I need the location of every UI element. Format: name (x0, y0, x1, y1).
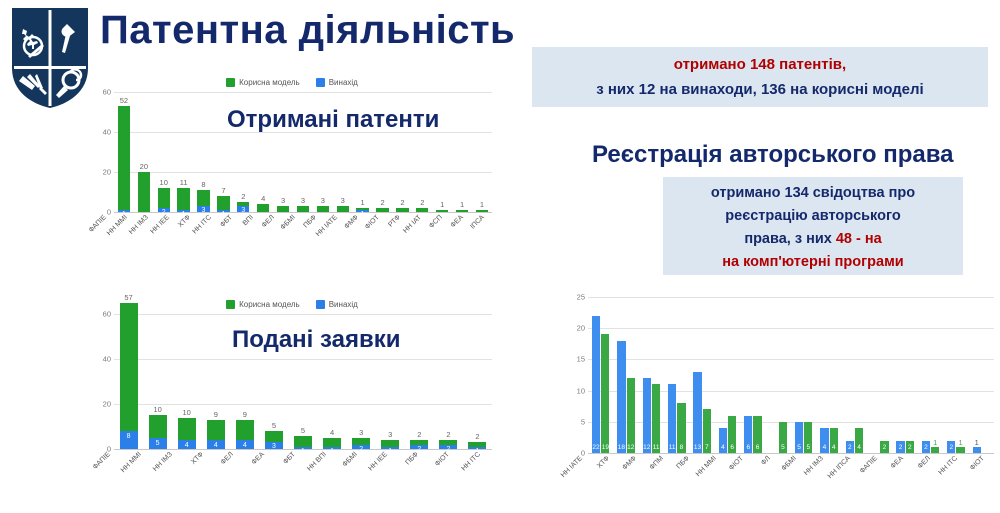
x-label-slot: ФСП (429, 212, 450, 256)
bar-slot[interactable]: 12 (463, 314, 492, 449)
bar-value-utility-model: 4 (323, 428, 341, 438)
bar-value-utility-model: 11 (177, 178, 189, 188)
callout-copyright-line3-prefix: права, з них (744, 231, 836, 247)
bar-slot[interactable]: 38 (194, 92, 214, 212)
chart2-xaxis: ФАПІЕНН ММІНН ІМЗХТФФЕЛФЕАФБТНН ВПІФБМІН… (92, 449, 492, 493)
x-label-slot: НН ІТС (461, 449, 492, 493)
x-label-slot: ФЛ (753, 453, 780, 497)
bar-segment-utility-model[interactable]: 22 (439, 440, 457, 445)
bar-slot[interactable]: 24 (842, 297, 867, 453)
x-label-slot: РТФ (387, 212, 408, 256)
bar-invention[interactable]: 22 (592, 316, 600, 453)
legend-swatch-green-icon (226, 300, 235, 309)
bar-segment-invention[interactable]: 4 (207, 440, 225, 449)
bar-stack[interactable]: 210 (158, 188, 170, 212)
bar-value-utility-model: 10 (158, 178, 170, 188)
copyright-registration-bars: 2219181212111181374666555442422221211 (588, 297, 994, 453)
x-axis-label: НН ММІ (120, 451, 143, 474)
bar-slot[interactable]: 46 (715, 297, 740, 453)
x-label-slot: НН ВПІ (307, 449, 338, 493)
bar-value-invention: 2 (846, 444, 854, 452)
bar-stack[interactable]: 13 (381, 440, 399, 449)
x-label-slot: ФБТ (218, 212, 239, 256)
submitted-applications-y-tick: 60 (103, 310, 111, 319)
bar-value-utility-model: 3 (297, 196, 309, 206)
bar-value-utility-model: 19 (601, 444, 609, 452)
bar-stack[interactable]: 510 (149, 415, 167, 449)
x-label-slot: НН ІТС (197, 212, 218, 256)
bar-slot[interactable]: 22 (893, 297, 918, 453)
bar-slot[interactable]: 1812 (613, 297, 638, 453)
x-label-slot: ФЕЛ (260, 212, 281, 256)
bar-group[interactable]: 21 (946, 297, 966, 453)
bar-invention[interactable]: 2 (922, 441, 930, 453)
callout-patents-line2: з них 12 на винаходи, 136 на корисні мод… (532, 77, 988, 102)
bar-segment-utility-model[interactable]: 20 (138, 172, 150, 212)
copyright-section-title: Реєстрація авторського права (592, 141, 954, 169)
copyright-registration-y-axis: 0510152025 (566, 285, 588, 453)
chart2-legend: Корисна модель Винахід (92, 298, 492, 310)
bar-group[interactable]: 118 (667, 297, 687, 453)
x-label-slot: НН ММІ (700, 453, 727, 497)
bar-slot[interactable]: 2219 (588, 297, 613, 453)
bar-slot[interactable]: 49 (201, 314, 230, 449)
bar-value-utility-model: 3 (337, 196, 349, 206)
x-label-slot: ВПІ (239, 212, 260, 256)
bar-group[interactable]: 1 (971, 297, 991, 453)
legend-swatch-blue-icon (316, 78, 325, 87)
x-label-slot: ФМФ (345, 212, 366, 256)
bar-group[interactable]: 46 (718, 297, 738, 453)
x-label-slot: НН ІЕЕ (155, 212, 176, 256)
x-axis-label: НН ІТС (937, 455, 958, 476)
bar-slot[interactable]: 152 (114, 92, 134, 212)
bar-group[interactable]: 21 (921, 297, 941, 453)
x-label-slot: НН ІАТЕ (324, 212, 345, 256)
received-patents-y-tick: 20 (103, 168, 111, 177)
x-axis-label: ФІОТ (364, 214, 381, 231)
x-label-slot: ФМФ (620, 453, 647, 497)
bar-value-utility-model: 2 (439, 430, 457, 440)
submitted-applications-y-tick: 20 (103, 400, 111, 409)
bar-stack[interactable]: 38 (197, 190, 209, 212)
bar-stack[interactable]: 20 (138, 172, 150, 212)
x-label-slot: ФПМ (646, 453, 673, 497)
x-axis-label: РТФ (387, 214, 402, 229)
chart1-xaxis: ФАПІЕНН ММІНН ІМЗНН ІЕЕХТФНН ІТСФБТВПІФЕ… (92, 212, 492, 256)
bar-group[interactable]: 44 (819, 297, 839, 453)
bar-utility-model[interactable]: 11 (652, 384, 660, 453)
bar-segment-utility-model[interactable]: 152 (118, 106, 130, 210)
submitted-applications-y-axis: 0204060 (92, 314, 114, 449)
bar-slot[interactable]: 857 (114, 314, 143, 449)
bar-slot[interactable]: 1 (452, 92, 472, 212)
x-axis-label: ФЕЛ (917, 455, 932, 470)
x-axis-label: ФІОТ (728, 455, 745, 472)
bar-segment-utility-model[interactable]: 4 (257, 204, 269, 212)
bar-segment-utility-model[interactable]: 15 (294, 436, 312, 447)
callout-patents-line1-suffix: патентів, (775, 56, 846, 73)
bar-segment-utility-model[interactable]: 17 (217, 196, 229, 210)
bar-value-utility-model: 4 (257, 194, 269, 204)
bar-value-utility-model: 1 (476, 200, 488, 210)
bar-stack[interactable]: 14 (323, 438, 341, 449)
bar-segment-utility-model[interactable]: 35 (265, 431, 283, 442)
bar-stack[interactable]: 22 (439, 440, 457, 449)
bar-value-utility-model: 3 (277, 196, 289, 206)
bar-value-invention: 5 (795, 444, 803, 452)
bar-stack[interactable]: 4 (257, 204, 269, 212)
bar-slot[interactable]: 410 (172, 314, 201, 449)
x-axis-label: НН ІМЗ (803, 455, 825, 477)
bar-slot[interactable]: 21 (943, 297, 968, 453)
bar-segment-utility-model[interactable]: 32 (237, 202, 249, 206)
bar-group[interactable]: 5 (768, 297, 788, 453)
bar-invention[interactable]: 13 (693, 372, 701, 453)
bar-value-utility-model: 52 (118, 96, 130, 106)
bar-utility-model[interactable]: 19 (601, 334, 609, 453)
bar-group[interactable]: 22 (895, 297, 915, 453)
bar-utility-model[interactable]: 2 (880, 441, 888, 453)
bar-stack[interactable]: 410 (178, 418, 196, 450)
bar-group[interactable]: 24 (845, 297, 865, 453)
copyright-registration-y-tick: 15 (577, 355, 585, 364)
received-patents-y-tick: 60 (103, 88, 111, 97)
bar-segment-invention[interactable]: 5 (149, 438, 167, 449)
bar-value-utility-model: 6 (753, 444, 761, 452)
copyright-registration-y-tick: 10 (577, 386, 585, 395)
chart2-title: Подані заявки (232, 326, 401, 354)
bar-segment-utility-model[interactable]: 14 (323, 438, 341, 447)
bar-invention[interactable]: 11 (668, 384, 676, 453)
callout-patents: отримано 148 патентів, з них 12 на винах… (532, 47, 988, 107)
x-axis-label: ФБТ (219, 214, 234, 229)
x-axis-label: ХТФ (596, 455, 611, 470)
bar-utility-model[interactable]: 5 (779, 422, 787, 453)
x-axis-label: НН ІМЗ (152, 451, 174, 473)
bar-value-utility-model: 3 (352, 428, 370, 438)
x-label-slot: ПБФ (400, 449, 431, 493)
x-label-slot: ФЕА (450, 212, 471, 256)
x-label-slot: ФЕА (887, 453, 914, 497)
bar-segment-utility-model[interactable]: 210 (158, 188, 170, 208)
x-axis-label: ФПМ (648, 455, 664, 471)
x-label-slot: НН ІАТЕ (566, 453, 593, 497)
x-axis-label: ФМФ (621, 455, 638, 472)
x-label-slot: ХТФ (184, 449, 215, 493)
bar-utility-model[interactable]: 6 (753, 416, 761, 453)
bar-slot[interactable]: 1 (969, 297, 994, 453)
bar-value-utility-model: 12 (627, 444, 635, 452)
bar-invention[interactable]: 2 (896, 441, 904, 453)
bar-utility-model[interactable]: 7 (703, 409, 711, 453)
bar-value-utility-model: 4 (830, 444, 838, 452)
x-axis-label: ФІОТ (434, 451, 451, 468)
bar-value-invention: 6 (744, 444, 752, 452)
x-axis-label: ФСП (428, 214, 444, 230)
bar-invention[interactable]: 6 (744, 416, 752, 453)
bar-group[interactable]: 1211 (642, 297, 662, 453)
bar-group[interactable]: 2219 (591, 297, 611, 453)
x-label-slot: ФБМІ (338, 449, 369, 493)
bar-stack[interactable]: 17 (217, 196, 229, 212)
legend-item-green: Корисна модель (226, 78, 300, 87)
bar-segment-utility-model[interactable]: 13 (381, 440, 399, 447)
bar-segment-utility-model[interactable]: 57 (120, 303, 138, 431)
bar-value-invention: 1 (973, 438, 981, 447)
bar-stack[interactable]: 23 (352, 438, 370, 449)
bar-value-invention: 5 (149, 439, 167, 448)
bar-slot[interactable]: 22 (434, 314, 463, 449)
legend-swatch-blue-icon (316, 300, 325, 309)
x-axis-label: ПБФ (302, 214, 317, 229)
bar-value-utility-model: 3 (317, 196, 329, 206)
bar-value-utility-model: 10 (149, 405, 167, 415)
chart1-title: Отримані патенти (227, 106, 439, 134)
legend-label-green: Корисна модель (239, 78, 300, 87)
bar-value-utility-model: 3 (381, 430, 399, 440)
bar-stack[interactable]: 111 (177, 188, 189, 212)
bar-stack[interactable]: 35 (265, 431, 283, 449)
callout-copyright-line3: права, з них 48 - на (663, 228, 963, 251)
bar-stack[interactable]: 22 (410, 440, 428, 449)
x-label-slot: ФБМІ (281, 212, 302, 256)
chart-received-patents: Корисна модель Винахід Отримані патенти … (92, 76, 492, 286)
legend-item-green: Корисна модель (226, 300, 300, 309)
bar-value-utility-model: 2 (906, 444, 914, 452)
x-axis-label: ПБФ (405, 451, 420, 466)
callout-copyright: отримано 134 свідоцтва про реєстрацію ав… (663, 177, 963, 275)
received-patents-y-axis: 0204060 (92, 92, 114, 212)
bar-segment-utility-model[interactable]: 111 (177, 188, 189, 210)
callout-copyright-count: 48 - на (836, 231, 882, 247)
x-axis-label: НН ВПІ (306, 451, 328, 473)
bar-value-utility-model: 1 (456, 200, 468, 210)
bar-segment-utility-model[interactable]: 38 (197, 190, 209, 206)
bar-stack[interactable]: 15 (294, 436, 312, 450)
bar-utility-model[interactable]: 6 (728, 416, 736, 453)
bar-value-utility-model: 6 (728, 444, 736, 452)
bar-value-utility-model: 5 (265, 421, 283, 431)
bar-value-utility-model: 20 (138, 162, 150, 172)
bar-slot[interactable]: 44 (816, 297, 841, 453)
bar-value-utility-model: 1 (436, 200, 448, 210)
bar-slot[interactable]: 20 (134, 92, 154, 212)
x-label-slot: НН ІТС (941, 453, 968, 497)
bar-value-invention: 18 (617, 444, 625, 452)
bar-value-invention: 13 (693, 444, 701, 452)
bar-stack[interactable]: 12 (468, 442, 486, 449)
bar-utility-model[interactable]: 5 (804, 422, 812, 453)
x-axis-label: ФЛ (760, 455, 772, 467)
bar-segment-invention[interactable]: 4 (236, 440, 254, 449)
legend-item-blue: Винахід (316, 78, 358, 87)
x-axis-label: ФЕЛ (220, 451, 235, 466)
bar-value-invention: 2 (947, 444, 955, 452)
bar-slot[interactable]: 111 (174, 92, 194, 212)
x-label-slot: ФЕА (246, 449, 277, 493)
x-label-slot: НН ІМЗ (134, 212, 155, 256)
legend-swatch-green-icon (226, 78, 235, 87)
x-axis-label: ФБТ (282, 451, 297, 466)
x-axis-label: ХТФ (177, 214, 192, 229)
bar-value-utility-model: 5 (804, 444, 812, 452)
x-label-slot: НН ІЕЕ (369, 449, 400, 493)
bar-value-utility-model: 2 (468, 432, 486, 442)
bar-segment-invention[interactable]: 4 (178, 440, 196, 449)
x-label-slot: ФІОТ (430, 449, 461, 493)
bar-slot[interactable]: 510 (143, 314, 172, 449)
kpi-coat-of-arms-logo (8, 4, 92, 112)
bar-value-utility-model: 2 (396, 198, 408, 208)
callout-copyright-line1: отримано 134 свідоцтва про (663, 182, 963, 205)
x-axis-label: НН ІАТЕ (560, 455, 584, 479)
bar-value-invention: 8 (120, 432, 138, 441)
x-axis-label: ПБФ (676, 455, 691, 470)
x-label-slot: ФАПІЕ (92, 449, 123, 493)
bar-utility-model[interactable]: 2 (906, 441, 914, 453)
chart1-legend: Корисна модель Винахід (92, 76, 492, 88)
x-axis-label: ФАПІЕ (858, 455, 878, 475)
bar-group[interactable]: 55 (794, 297, 814, 453)
bar-segment-utility-model[interactable]: 10 (178, 418, 196, 441)
x-axis-label: ІПСА (470, 214, 487, 231)
bar-invention[interactable]: 2 (846, 441, 854, 453)
callout-patents-line1-prefix: отримано (674, 56, 750, 73)
x-label-slot: ФІОТ (727, 453, 754, 497)
x-axis-label: ФЕА (251, 451, 266, 466)
bar-invention[interactable]: 18 (617, 341, 625, 453)
bar-value-utility-model: 8 (677, 444, 685, 452)
bar-value-utility-model: 1 (931, 438, 939, 447)
callout-copyright-line2: реєстрацію авторського (663, 205, 963, 228)
bar-slot[interactable]: 5 (766, 297, 791, 453)
x-label-slot: ФІОТ (967, 453, 994, 497)
x-axis-label: НН ІЕЕ (368, 451, 389, 472)
bar-slot[interactable]: 137 (690, 297, 715, 453)
x-label-slot: ФАПІЕ (860, 453, 887, 497)
x-axis-label: ФЕА (450, 214, 465, 229)
bar-invention[interactable]: 2 (947, 441, 955, 453)
chart-copyright-registration: 0510152025221918121211118137466655544242… (566, 285, 994, 510)
chart3-xaxis: НН ІАТЕХТФФМФФПМПБФНН ММІФІОТФЛФБМІНН ІМ… (566, 453, 994, 497)
bar-group[interactable]: 137 (692, 297, 712, 453)
bar-slot[interactable]: 66 (740, 297, 765, 453)
callout-copyright-line4: на комп'ютерні програми (663, 251, 963, 274)
bar-stack[interactable]: 49 (207, 420, 225, 449)
page-title: Патентна діяльність (100, 8, 515, 53)
bar-stack[interactable]: 32 (237, 202, 249, 212)
bar-value-utility-model: 57 (120, 293, 138, 303)
submitted-applications-y-tick: 40 (103, 355, 111, 364)
legend-item-blue: Винахід (316, 300, 358, 309)
x-axis-label: ФБМІ (279, 214, 296, 231)
x-label-slot: ФІОТ (366, 212, 387, 256)
bar-utility-model[interactable]: 4 (830, 428, 838, 453)
bar-value-utility-model: 7 (217, 186, 229, 196)
bar-group[interactable]: 1812 (616, 297, 636, 453)
bar-group[interactable]: 66 (743, 297, 763, 453)
bar-value-utility-model: 5 (294, 426, 312, 436)
bar-value-utility-model: 2 (410, 430, 428, 440)
bar-value-utility-model: 9 (207, 410, 225, 420)
x-axis-label: ФБМІ (781, 455, 798, 472)
bar-group[interactable]: 2 (870, 297, 890, 453)
x-label-slot: НН ММІ (123, 449, 154, 493)
bar-stack[interactable]: 49 (236, 420, 254, 449)
bar-invention[interactable]: 12 (643, 378, 651, 453)
bar-slot[interactable]: 1211 (639, 297, 664, 453)
bar-value-invention: 2 (896, 444, 904, 452)
x-axis-label: ФБМІ (341, 451, 358, 468)
bar-value-invention: 2 (922, 444, 930, 452)
bar-value-utility-model: 11 (652, 444, 660, 452)
x-label-slot: НН ІПСА (834, 453, 861, 497)
bar-segment-utility-model[interactable]: 23 (352, 438, 370, 445)
x-label-slot: НН ІМЗ (154, 449, 185, 493)
bar-slot[interactable]: 21 (918, 297, 943, 453)
bar-value-invention: 4 (719, 444, 727, 452)
bar-slot[interactable]: 1 (472, 92, 492, 212)
bar-segment-utility-model[interactable]: 10 (149, 415, 167, 438)
bar-slot[interactable]: 210 (154, 92, 174, 212)
bar-utility-model[interactable]: 8 (677, 403, 685, 453)
chart3-plot: 0510152025221918121211118137466655544242… (566, 285, 994, 453)
bar-utility-model[interactable]: 4 (855, 428, 863, 453)
bar-segment-invention[interactable]: 8 (120, 431, 138, 449)
x-axis-label: ФІОТ (969, 455, 986, 472)
x-label-slot: ФБТ (277, 449, 308, 493)
bar-value-invention: 12 (643, 444, 651, 452)
x-axis-label: ВПІ (242, 214, 255, 227)
bar-value-utility-model: 2 (416, 198, 428, 208)
bar-segment-utility-model[interactable]: 12 (468, 442, 486, 446)
bar-segment-utility-model[interactable]: 9 (207, 420, 225, 440)
legend-label-blue: Винахід (329, 78, 358, 87)
bar-value-utility-model: 1 (956, 438, 964, 447)
bar-value-utility-model: 2 (880, 444, 888, 452)
bar-slot[interactable]: 118 (664, 297, 689, 453)
x-label-slot: ІПСА (471, 212, 492, 256)
bar-value-utility-model: 8 (197, 180, 209, 190)
legend-label-blue: Винахід (329, 300, 358, 309)
x-label-slot: ФЕЛ (914, 453, 941, 497)
bar-value-utility-model: 2 (237, 192, 249, 202)
legend-label-green: Корисна модель (239, 300, 300, 309)
x-label-slot: НН ІАТ (408, 212, 429, 256)
bar-segment-utility-model[interactable]: 9 (236, 420, 254, 440)
bar-utility-model[interactable]: 12 (627, 378, 635, 453)
copyright-registration-y-tick: 5 (581, 417, 585, 426)
bar-segment-utility-model[interactable]: 11 (356, 208, 368, 210)
bar-invention[interactable]: 4 (820, 428, 828, 453)
callout-patents-count: 148 (750, 56, 775, 73)
bar-slot[interactable]: 55 (791, 297, 816, 453)
bar-invention[interactable]: 5 (795, 422, 803, 453)
bar-value-utility-model: 10 (178, 408, 196, 418)
bar-slot[interactable]: 22 (405, 314, 434, 449)
bar-invention[interactable]: 4 (719, 428, 727, 453)
bar-value-utility-model: 5 (779, 444, 787, 452)
x-axis-label: ФАПІЕ (92, 451, 112, 471)
bar-slot[interactable]: 2 (867, 297, 892, 453)
bar-segment-utility-model[interactable]: 22 (410, 440, 428, 445)
bar-stack[interactable]: 152 (118, 106, 130, 212)
chart-submitted-applications: Корисна модель Винахід Подані заявки 020… (92, 298, 492, 508)
x-axis-label: ФАПІЕ (87, 214, 107, 234)
bar-value-invention: 22 (592, 444, 600, 452)
bar-stack[interactable]: 857 (120, 303, 138, 449)
